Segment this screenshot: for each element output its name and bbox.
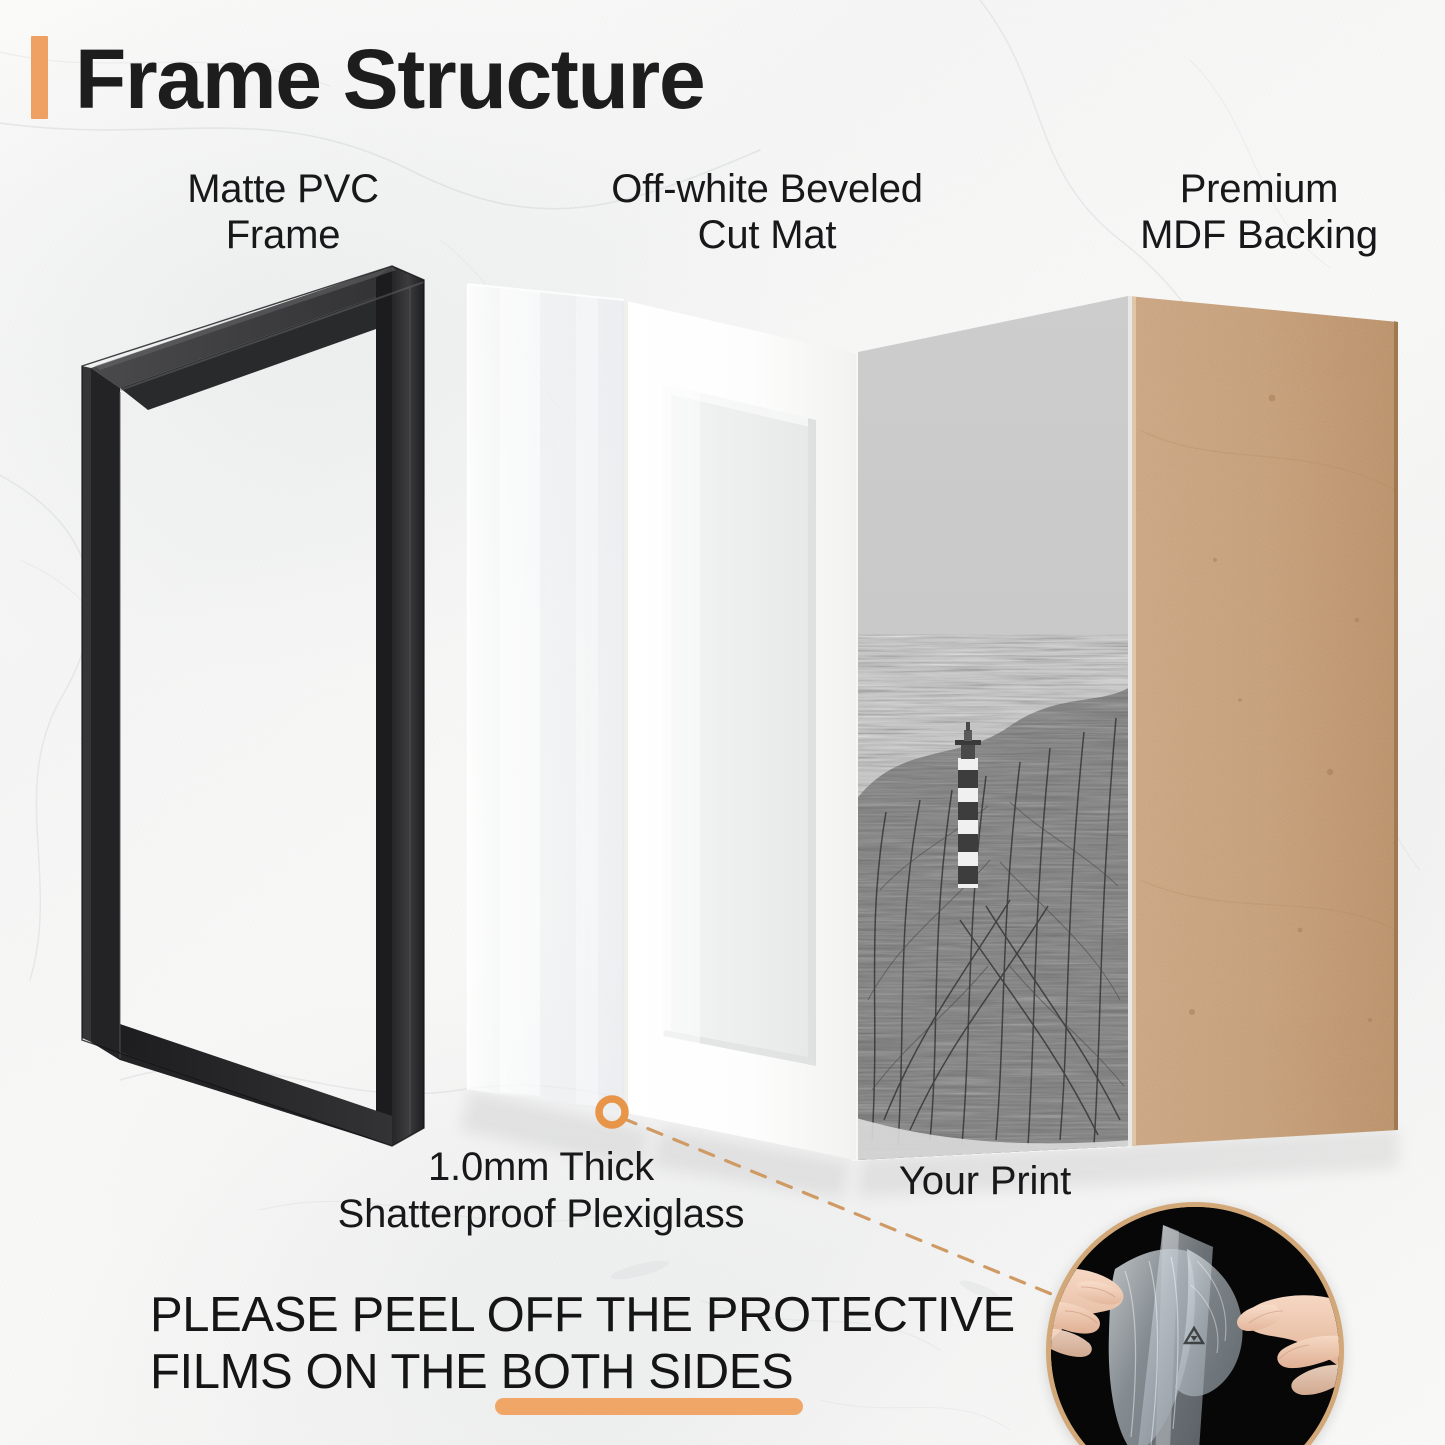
- infographic-canvas: Frame Structure: [0, 0, 1445, 1445]
- label-cut-mat-line2: Cut Mat: [546, 212, 988, 258]
- warning-line-2: FILMS ON THE BOTH SIDES: [150, 1344, 1050, 1401]
- layer-plexiglass: [468, 284, 624, 1112]
- warning-highlight: BOTH SIDES: [501, 1344, 794, 1401]
- layer-mdf-backing: [1128, 290, 1403, 1150]
- label-plexiglass-line2: Shatterproof Plexiglass: [256, 1191, 826, 1238]
- layer-cut-mat: [622, 300, 856, 1160]
- label-your-print: Your Print: [860, 1158, 1110, 1205]
- label-mdf-backing-line2: MDF Backing: [1078, 212, 1440, 258]
- label-pvc-frame: Matte PVC Frame: [108, 166, 458, 259]
- warning-line-2-prefix: FILMS ON THE: [150, 1345, 501, 1399]
- warning-line-1: PLEASE PEEL OFF THE PROTECTIVE: [150, 1287, 1050, 1344]
- label-mdf-backing: Premium MDF Backing: [1078, 166, 1440, 259]
- label-cut-mat: Off-white Beveled Cut Mat: [546, 166, 988, 259]
- label-plexiglass-line1: 1.0mm Thick: [256, 1144, 826, 1191]
- peel-warning-text: PLEASE PEEL OFF THE PROTECTIVE FILMS ON …: [150, 1287, 1050, 1402]
- layer-print: [852, 290, 1132, 1180]
- label-pvc-frame-line2: Frame: [108, 212, 458, 258]
- label-cut-mat-line1: Off-white Beveled: [546, 166, 988, 212]
- label-plexiglass: 1.0mm Thick Shatterproof Plexiglass: [256, 1144, 826, 1238]
- label-pvc-frame-line1: Matte PVC: [108, 166, 458, 212]
- label-mdf-backing-line1: Premium: [1078, 166, 1440, 212]
- layer-pvc-frame: [82, 266, 424, 1146]
